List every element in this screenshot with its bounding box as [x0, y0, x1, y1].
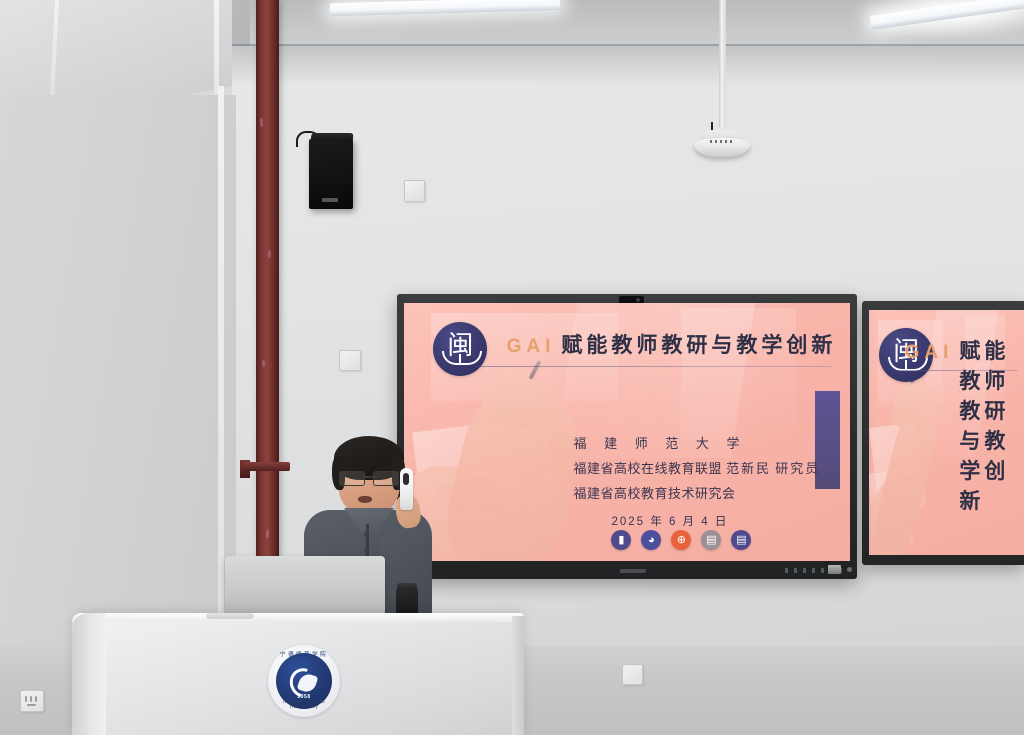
dome-led-strip: [710, 140, 734, 143]
microphone-grille-icon: [403, 473, 409, 485]
magnifier-icon: ⊕: [671, 530, 691, 550]
emblem-name-cn: 宁德师范学院: [268, 650, 340, 658]
podium-monitor[interactable]: [225, 556, 385, 618]
wall-outlet-left[interactable]: [20, 690, 44, 712]
slide-icon-row: ▮ ◕ ⊕ ▤ ▤: [611, 530, 751, 550]
ceiling-mount-pole: [719, 0, 726, 128]
slide-presenter-name: 范新民: [726, 462, 771, 477]
slide-title-rule-primary: [475, 366, 832, 367]
slide-title-prefix-primary: GAI: [507, 336, 556, 358]
podium-top-surface: [72, 613, 524, 622]
slide-affiliation-org: 福建省高校在线教育联盟: [573, 461, 722, 476]
slide-canvas: 闽 GAI 赋能教师教研与教学创新 福 建 师 范 大 学 福建省高校在线教育联…: [404, 303, 850, 561]
podium-university-emblem: 宁德师范学院 1958 Ningde Normal University: [268, 645, 340, 717]
wall-corner-edge: [218, 86, 224, 646]
presenter-glasses: [338, 471, 400, 484]
emblem-swoosh-icon: [288, 665, 320, 697]
pie-chart-icon: ◕: [641, 530, 661, 550]
podium-cable-notch: [206, 613, 254, 619]
slide-title: GAI 赋能教师教研与教学创新: [507, 329, 837, 359]
bar-chart-icon: ▮: [611, 530, 631, 550]
wall-plate-lower: [622, 664, 643, 685]
emblem-name-en: Ningde Normal University: [268, 700, 340, 710]
secondary-display-screen[interactable]: 闽 GAI 赋能教师教研与教学创新: [869, 310, 1024, 555]
display-brand-mark: [620, 569, 646, 573]
slide-logo-glyph-primary: 闽: [433, 322, 487, 376]
left-wall: [0, 95, 236, 655]
wall-plate-mid: [339, 350, 361, 371]
slide-body: 福 建 师 范 大 学 福建省高校在线教育联盟 范新民 研究员 福建省高校教育技…: [573, 432, 832, 529]
slide-title-prefix: GAI: [905, 342, 954, 364]
book-icon: ▤: [701, 530, 721, 550]
slide-university-logo-primary: 闽: [433, 322, 487, 376]
slide-title-main: 赋能教师教研与教学创新: [959, 335, 1024, 515]
presenter-mouth: [358, 496, 372, 503]
speaker-brand-label: [322, 198, 338, 202]
slide-title-secondary: GAI 赋能教师教研与教学创新: [905, 335, 1024, 515]
podium-left-curve: [72, 613, 106, 735]
support-pillar: [256, 0, 279, 624]
slide-canvas-secondary: 闽 GAI 赋能教师教研与教学创新: [869, 310, 1024, 555]
pillar-bracket-upper: [244, 462, 290, 471]
primary-display-screen[interactable]: 闽 GAI 赋能教师教研与教学创新 福 建 师 范 大 学 福建省高校在线教育联…: [404, 303, 850, 561]
podium-right-edge: [512, 616, 524, 735]
slide-line-affiliation: 福建省高校在线教育联盟 范新民 研究员: [573, 457, 832, 483]
wall-top-shadow: [232, 46, 1024, 86]
slide-line-university: 福 建 师 范 大 学: [573, 432, 832, 457]
wall-plate-upper: [404, 180, 425, 202]
classroom-scene: 闽 GAI 赋能教师教研与教学创新: [0, 0, 1024, 735]
slide-date: 2025 年 6 月 4 日: [573, 513, 832, 529]
slide-title-main-primary: 赋能教师教研与教学创新: [561, 329, 836, 359]
display-ir-sensor-icon: [847, 567, 852, 572]
display-usb-port[interactable]: [828, 565, 841, 574]
slide-presenter-title: 研究员: [775, 462, 820, 477]
notepad-icon: ▤: [731, 530, 751, 550]
display-camera-lens-icon: [636, 298, 640, 302]
slide-line-society: 福建省高校教育技术研究会: [573, 482, 832, 507]
